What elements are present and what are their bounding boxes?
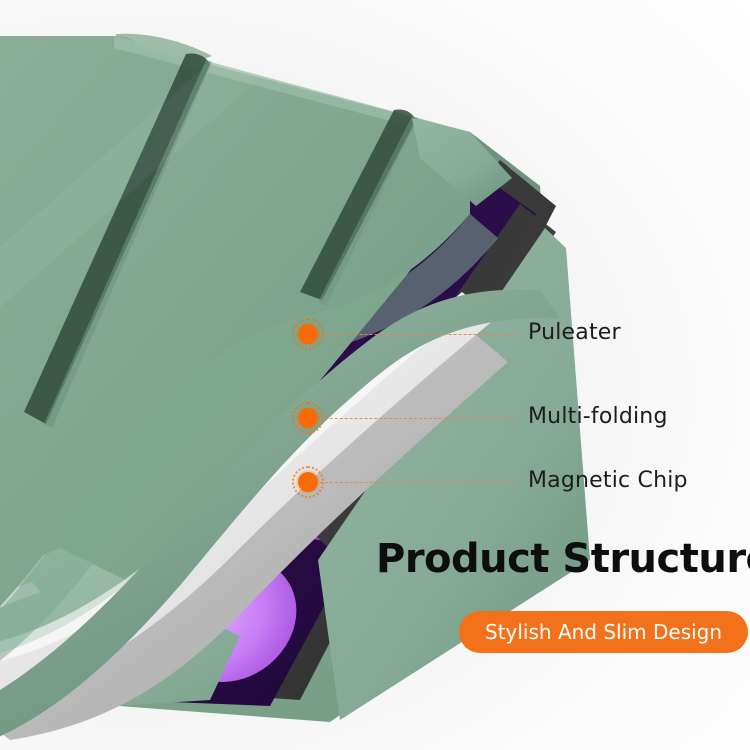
callout-label-puleater: Puleater (528, 320, 621, 345)
callout-line-multi-folding (320, 418, 516, 419)
callout-dot-puleater[interactable] (298, 324, 318, 344)
callout-label-magnetic-chip: Magnetic Chip (528, 468, 688, 493)
tagline-badge: Stylish And Slim Design (459, 611, 748, 653)
callout-line-magnetic-chip (320, 482, 516, 483)
product-structure-infographic: Puleater Multi-folding Magnetic Chip Pro… (0, 0, 750, 750)
page-title: Product Structure (376, 536, 750, 582)
callout-dot-magnetic-chip[interactable] (298, 472, 318, 492)
callout-line-puleater (320, 334, 516, 335)
callout-dot-multi-folding[interactable] (298, 408, 318, 428)
callout-label-multi-folding: Multi-folding (528, 404, 668, 429)
